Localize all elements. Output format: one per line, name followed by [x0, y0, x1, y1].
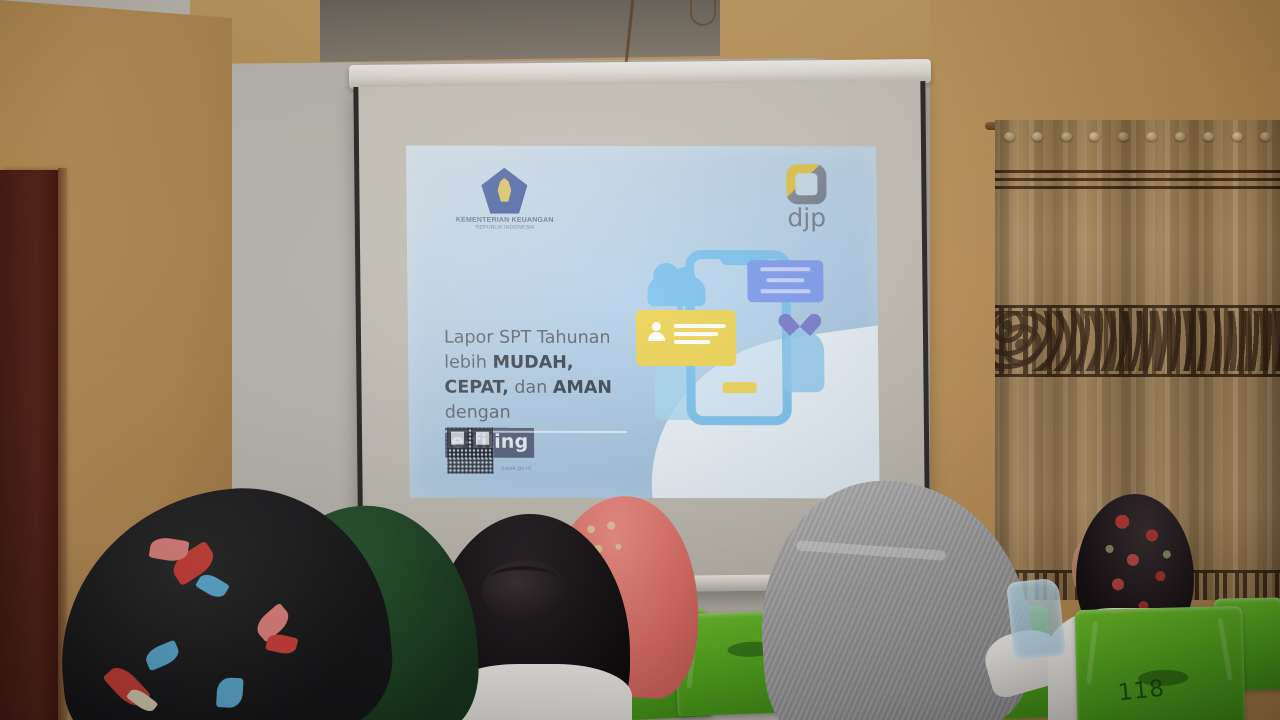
hair-clip-icon — [488, 566, 558, 594]
djp-rounded-square-icon — [786, 164, 826, 204]
message-line — [760, 289, 810, 293]
headline-line-2-normal: lebih — [444, 352, 492, 372]
id-card-icon — [636, 310, 737, 366]
chair-rib — [1086, 622, 1098, 684]
headline-line-4: dengan — [445, 400, 655, 425]
headline-line-1: Lapor SPT Tahunan — [444, 326, 654, 351]
green-chair-numbered — [1074, 606, 1245, 720]
qr-caption: pajak.go.id — [501, 466, 531, 472]
headline-line-3-bold-a: CEPAT, — [444, 377, 509, 397]
ministry-logo-line1: KEMENTERIAN KEUANGAN — [445, 217, 565, 224]
headline-line-2-bold: MUDAH, — [492, 353, 573, 373]
cloud-upload-icon — [647, 276, 705, 306]
background-blob-right — [782, 330, 825, 392]
id-card-line — [674, 324, 726, 328]
plastic-bag — [1006, 577, 1066, 660]
qr-code-icon — [447, 428, 493, 474]
projected-slide: KEMENTERIAN KEUANGAN REPUBLIK INDONESIA … — [406, 146, 880, 499]
chair-number-label: 118 — [1117, 676, 1166, 707]
headline-line-3-bold-b: AMAN — [553, 378, 612, 398]
djp-wordmark: djp — [771, 205, 843, 230]
id-card-lines — [674, 324, 726, 348]
chair-rib — [1217, 618, 1232, 680]
doorway — [0, 170, 62, 720]
person-avatar-icon — [647, 322, 665, 340]
ceiling-shadow — [320, 0, 720, 62]
hijab-flower — [195, 570, 230, 601]
yellow-bar — [722, 382, 756, 393]
message-card-icon — [747, 260, 823, 302]
hijab-flower — [216, 677, 244, 708]
id-card-line — [674, 340, 710, 344]
ministry-logo: KEMENTERIAN KEUANGAN REPUBLIK INDONESIA — [444, 168, 565, 231]
ministry-of-finance-crest-icon — [481, 168, 527, 214]
djp-logo: djp — [770, 164, 843, 230]
headline-line-3: CEPAT, dan AMAN — [444, 375, 654, 400]
photo-scene: KEMENTERIAN KEUANGAN REPUBLIK INDONESIA … — [0, 0, 1280, 720]
hijab-flower — [265, 632, 298, 656]
id-card-line — [674, 332, 718, 336]
message-line — [766, 278, 804, 282]
headline-line-2: lebih MUDAH, — [444, 350, 654, 375]
ministry-logo-line2: REPUBLIK INDONESIA — [445, 225, 565, 231]
headline-line-3-normal: dan — [509, 377, 553, 397]
message-line — [760, 267, 810, 271]
heart-icon — [788, 310, 814, 334]
mobile-efiling-illustration — [635, 232, 847, 447]
cable-loop-icon — [690, 0, 716, 26]
hijab-flower — [143, 640, 182, 672]
